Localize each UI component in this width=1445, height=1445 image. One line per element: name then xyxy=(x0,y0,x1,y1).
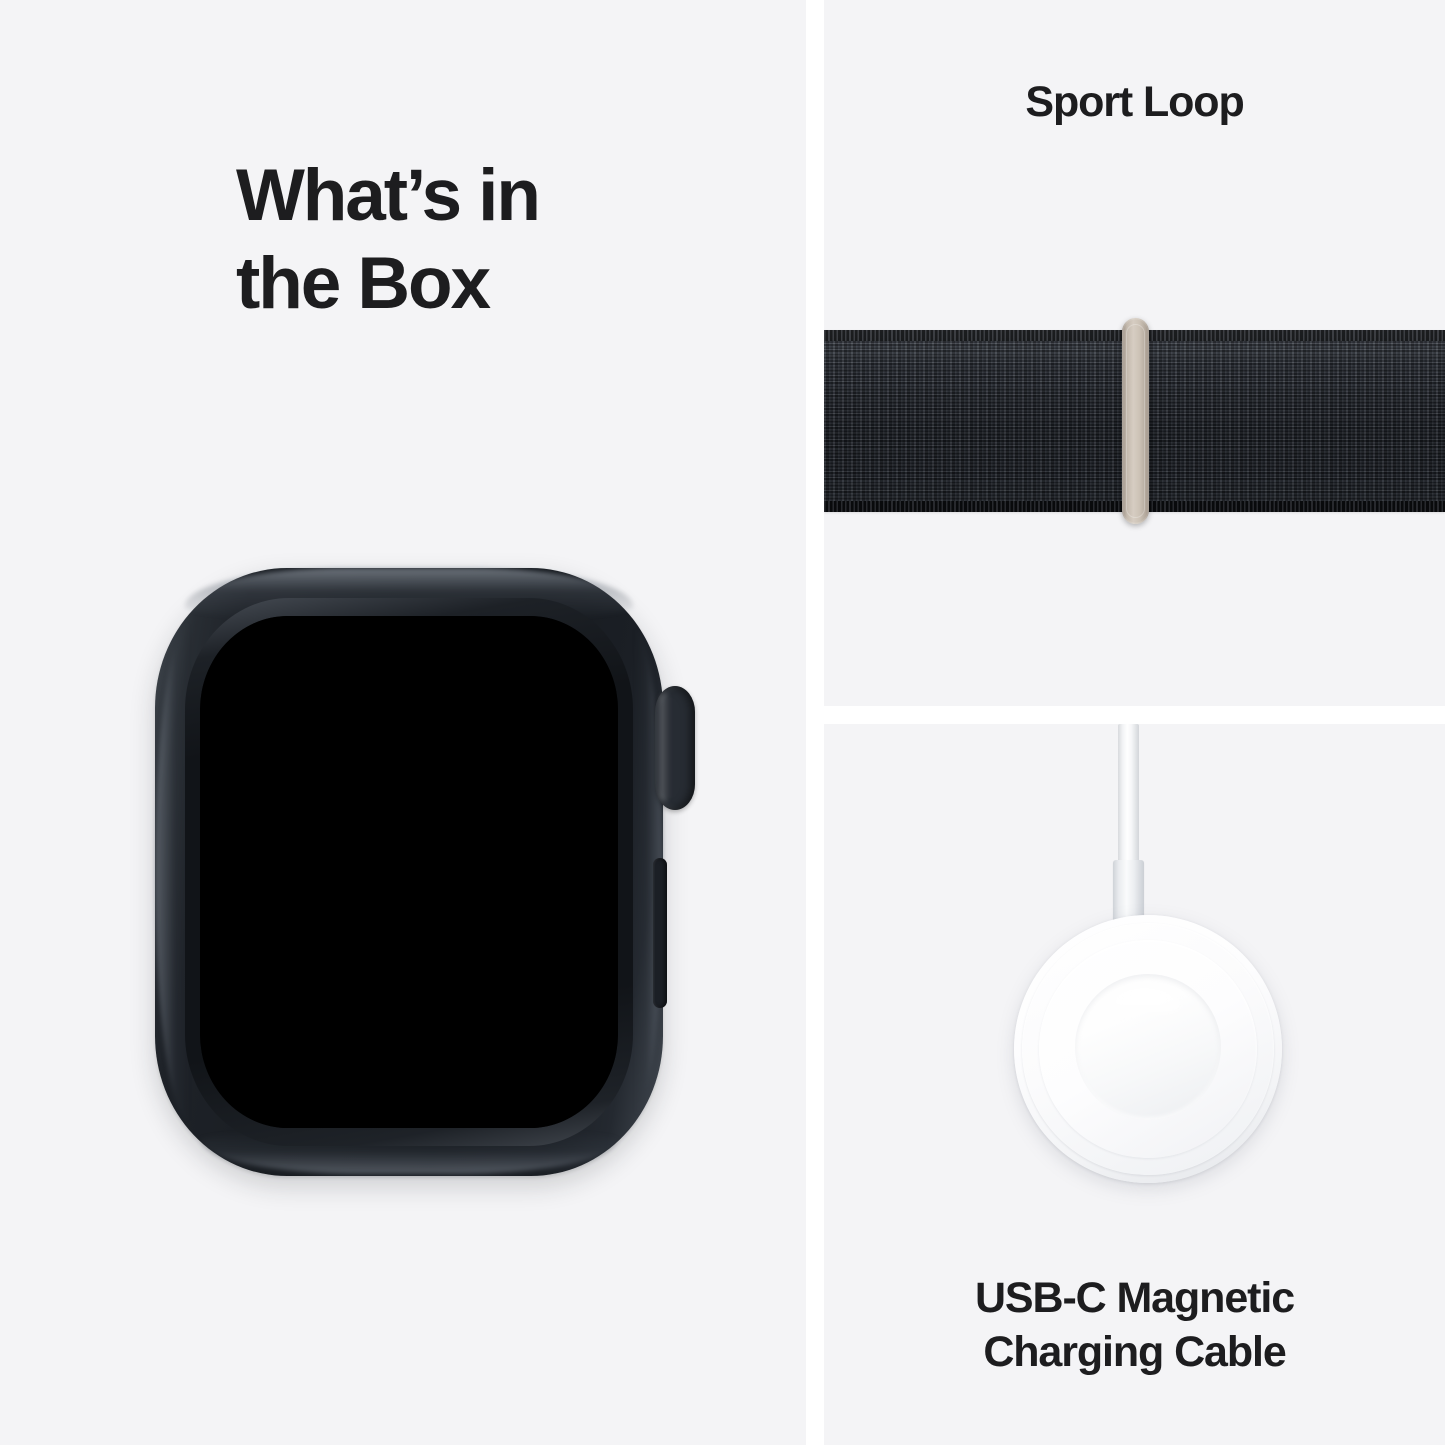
charging-cable-caption-line-2: Charging Cable xyxy=(824,1325,1445,1379)
watch-display xyxy=(200,616,618,1128)
page-title: What’s in the Box xyxy=(236,152,756,328)
apple-watch-image xyxy=(155,568,663,1176)
case-left-highlight xyxy=(155,623,189,1122)
band-loop-keeper xyxy=(1122,318,1149,524)
puck-ring-outer xyxy=(1022,923,1274,1175)
charging-cable-caption: USB-C Magnetic Charging Cable xyxy=(824,1271,1445,1379)
whats-in-the-box-figure: What’s in the Box Sport Loop xyxy=(0,0,1445,1445)
sport-loop-panel: Sport Loop xyxy=(824,0,1445,706)
puck-ring-mid xyxy=(1039,940,1257,1158)
page-title-line-2: the Box xyxy=(236,240,756,328)
charging-cable-caption-line-1: USB-C Magnetic xyxy=(824,1271,1445,1325)
page-title-line-1: What’s in xyxy=(236,152,756,240)
puck-highlight xyxy=(1107,987,1183,1025)
charging-cable-panel: USB-C Magnetic Charging Cable xyxy=(824,724,1445,1445)
sport-loop-band-image xyxy=(824,330,1445,512)
puck-inner-disc xyxy=(1075,974,1221,1120)
magnetic-charging-puck xyxy=(1014,915,1282,1183)
whats-in-the-box-panel: What’s in the Box xyxy=(0,0,806,1445)
side-button-icon xyxy=(653,858,667,1008)
sport-loop-title: Sport Loop xyxy=(824,78,1445,127)
digital-crown-icon xyxy=(655,686,695,810)
